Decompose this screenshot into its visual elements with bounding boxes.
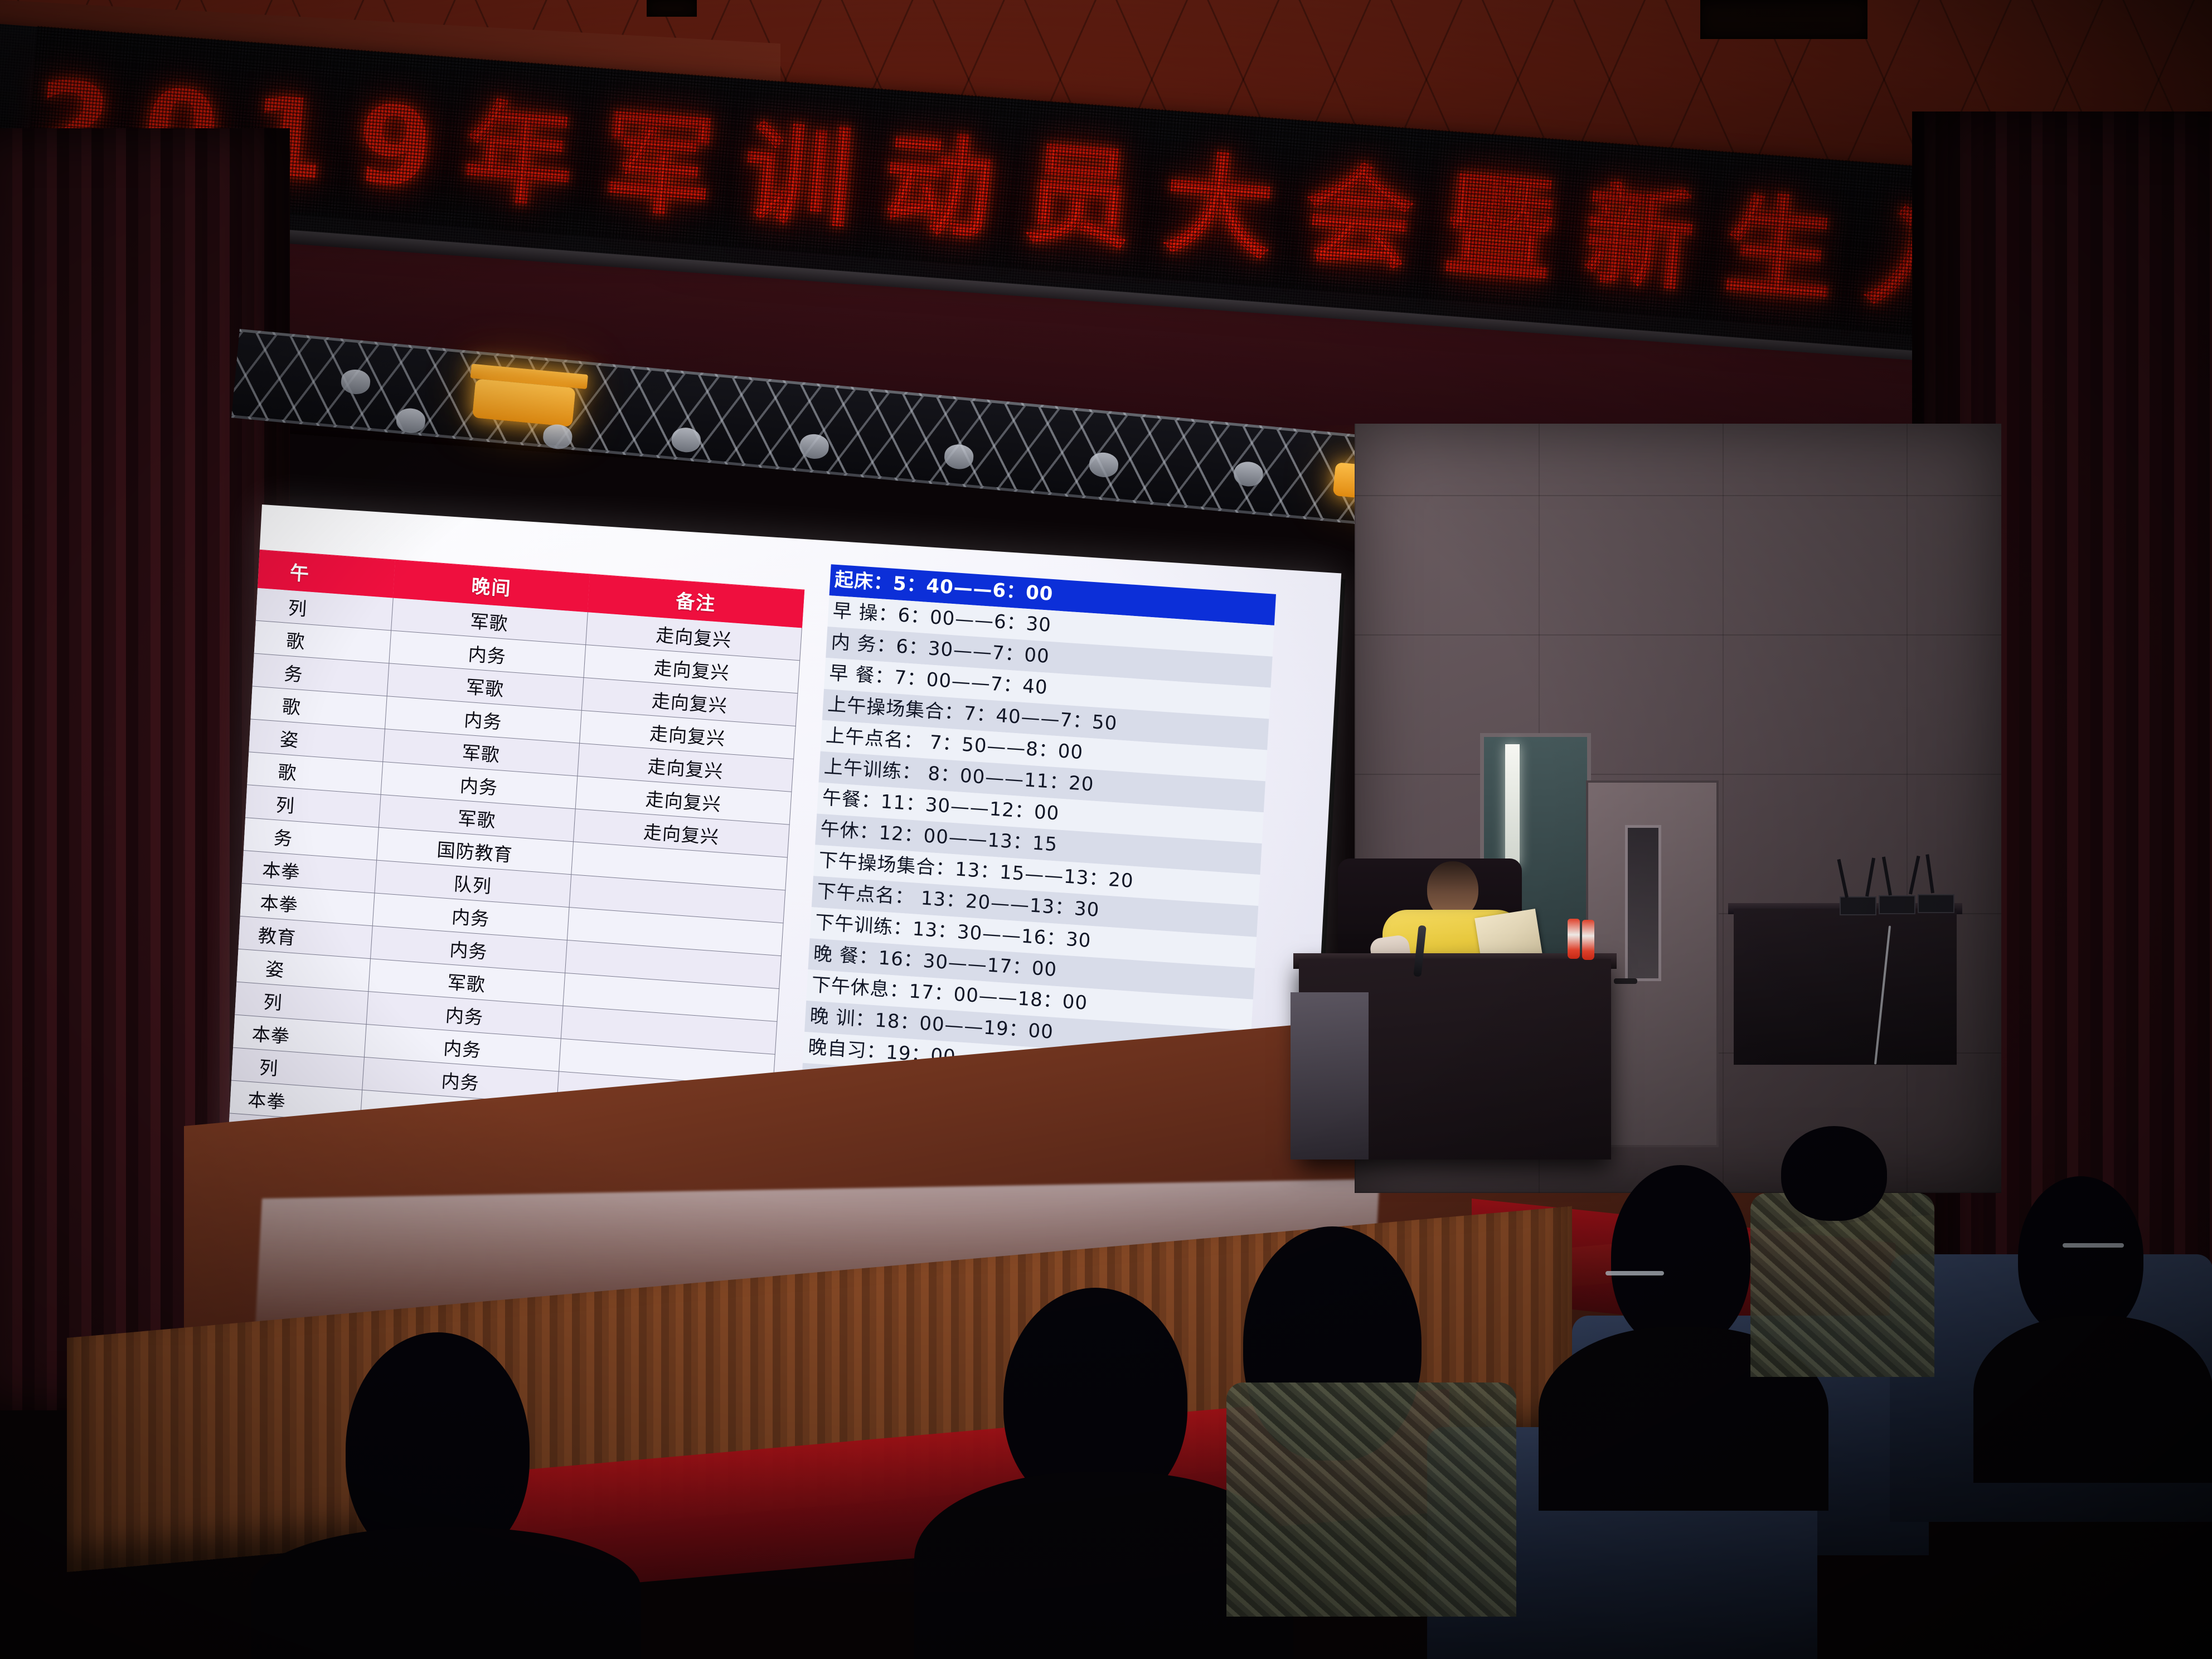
- stage-light: [671, 426, 702, 454]
- stage-light: [542, 423, 573, 450]
- auditorium-scene: 2019年军训动员大会暨新生入学安全教育活动 午 晚间 备注: [0, 0, 2212, 1659]
- audience-camo-uniform: [1226, 1382, 1516, 1617]
- door-view-pane: [1625, 825, 1661, 981]
- water-bottle: [1568, 919, 1580, 959]
- stage-light: [340, 368, 371, 396]
- eyeglasses: [1605, 1271, 1664, 1275]
- eyeglasses: [2063, 1243, 2124, 1248]
- wireless-receiver: [1840, 896, 1876, 915]
- stage-light: [1088, 452, 1119, 479]
- stage-light: [943, 443, 974, 470]
- door-handle[interactable]: [1614, 978, 1637, 984]
- equipment-table: [1734, 909, 1957, 1065]
- wireless-receiver: [1918, 894, 1954, 913]
- lectern: [1291, 992, 1369, 1160]
- audience-head: [1781, 1126, 1887, 1221]
- ceiling-vent: [1700, 0, 1867, 39]
- audience-shoulders: [1973, 1316, 2212, 1483]
- audience-head: [1611, 1165, 1750, 1349]
- window-light-reflection: [1505, 744, 1520, 867]
- stage-light: [1233, 460, 1264, 488]
- water-bottle: [1582, 920, 1594, 960]
- stage-light: [799, 433, 830, 460]
- ceiling-vent: [647, 0, 697, 17]
- stage-light: [395, 407, 426, 434]
- audience-shoulders: [251, 1527, 641, 1659]
- wireless-receiver: [1879, 895, 1915, 914]
- audience-head: [2018, 1176, 2143, 1338]
